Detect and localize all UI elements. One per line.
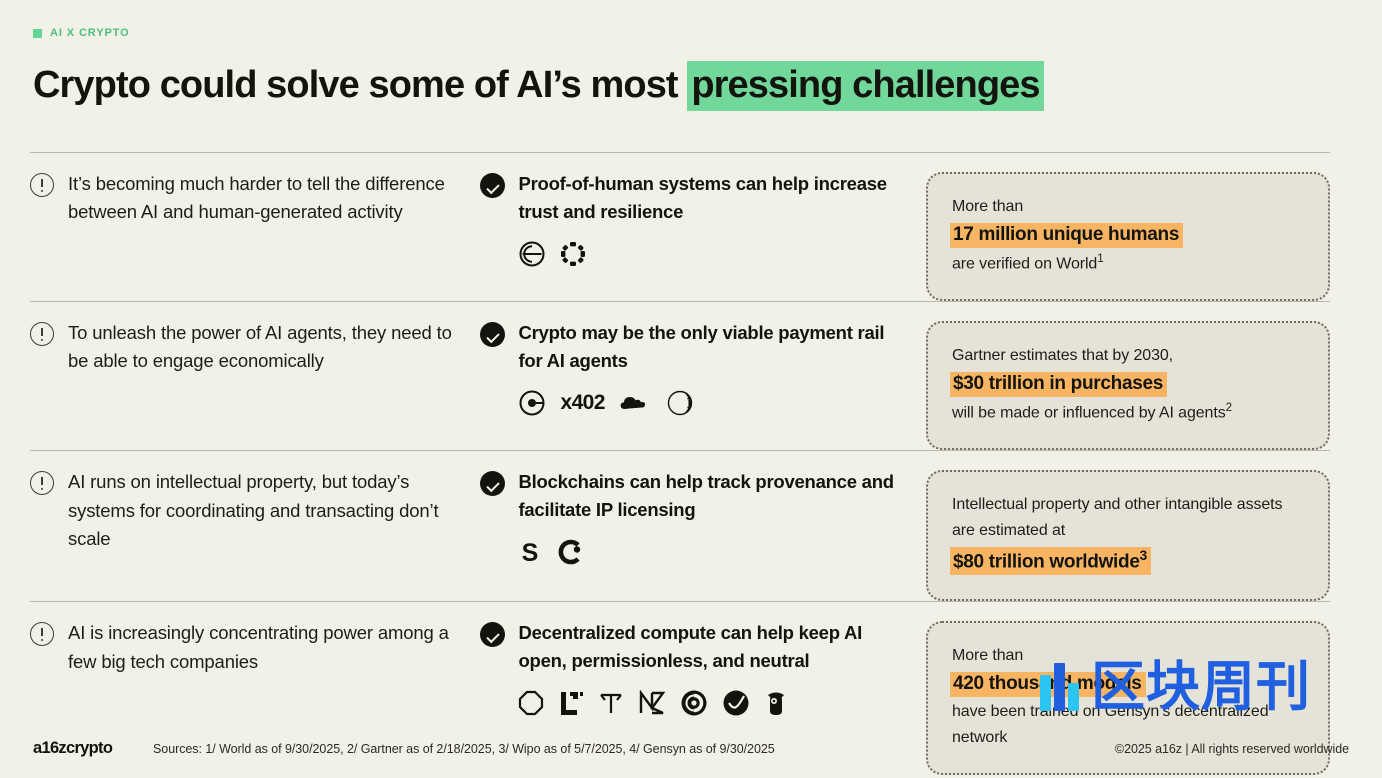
stat-footnote: 2: [1226, 402, 1232, 414]
solution-text: Decentralized compute can help keep AI o…: [518, 619, 908, 675]
stat-highlight-text: $80 trillion worldwide: [953, 551, 1140, 572]
alert-circle-icon: [30, 622, 54, 646]
check-circle-icon: [480, 622, 505, 647]
alert-circle-icon: [30, 471, 54, 495]
stat-card: More than 17 million unique humans are v…: [926, 172, 1330, 301]
a16zcrypto-logo: a16zcrypto: [33, 739, 153, 758]
logo-row: x402: [518, 388, 908, 418]
world-logo: [518, 240, 546, 268]
figure-logo: [764, 689, 788, 717]
content-rows: It’s becoming much harder to tell the di…: [30, 152, 1330, 775]
stat-card: Gartner estimates that by 2030, $30 tril…: [926, 321, 1330, 450]
stat-footnote: 1: [1097, 253, 1103, 265]
problem-text: To unleash the power of AI agents, they …: [68, 319, 460, 376]
check-swirl-logo: [722, 689, 750, 717]
stat-cell: More than 17 million unique humans are v…: [926, 170, 1330, 301]
bracket-flag-logo: [558, 690, 584, 716]
content-row: To unleash the power of AI agents, they …: [30, 301, 1330, 450]
dotted-ring-logo: [560, 241, 586, 267]
stat-pre: Intellectual property and other intangib…: [952, 492, 1304, 544]
footer: a16zcrypto Sources: 1/ World as of 9/30/…: [33, 739, 1349, 758]
stat-post-text: are verified on World: [952, 255, 1097, 272]
stat-highlight: $30 trillion in purchases: [950, 372, 1167, 397]
sources-text: Sources: 1/ World as of 9/30/2025, 2/ Ga…: [153, 742, 775, 756]
problem-text: It’s becoming much harder to tell the di…: [68, 170, 460, 227]
solution-text: Crypto may be the only viable payment ra…: [518, 319, 908, 375]
solution-cell: Proof-of-human systems can help increase…: [480, 170, 926, 269]
n-monogram-logo: [638, 690, 666, 716]
stat-footnote: 3: [1140, 548, 1147, 563]
svg-text:S: S: [522, 539, 539, 566]
problem-cell: AI runs on intellectual property, but to…: [30, 468, 480, 553]
cloudflare-logo: [619, 392, 653, 414]
spiral-circle-logo: [680, 689, 708, 717]
logo-row: S: [518, 537, 908, 567]
eyebrow: AI X CRYPTO: [33, 27, 130, 39]
stat-card: Intellectual property and other intangib…: [926, 470, 1330, 601]
page-title-highlight: pressing challenges: [687, 61, 1043, 111]
copyright-text: ©2025 a16z | All rights reserved worldwi…: [1115, 742, 1349, 756]
problem-cell: AI is increasingly concentrating power a…: [30, 619, 480, 676]
stat-pre: More than: [952, 643, 1304, 669]
stat-highlight: $80 trillion worldwide3: [950, 547, 1151, 575]
content-row: AI runs on intellectual property, but to…: [30, 450, 1330, 601]
logo-row: [518, 688, 908, 718]
page-title-plain: Crypto could solve some of AI’s most: [33, 64, 687, 106]
content-row: It’s becoming much harder to tell the di…: [30, 152, 1330, 301]
solution-text: Blockchains can help track provenance an…: [518, 468, 908, 524]
check-circle-icon: [480, 173, 505, 198]
stat-highlight: 17 million unique humans: [950, 223, 1183, 248]
story-s-logo: S: [518, 538, 542, 566]
solution-text: Proof-of-human systems can help increase…: [518, 170, 908, 226]
problem-cell: It’s becoming much harder to tell the di…: [30, 170, 480, 227]
problem-text: AI runs on intellectual property, but to…: [68, 468, 460, 553]
problem-text: AI is increasingly concentrating power a…: [68, 619, 460, 676]
x402-wordmark: x402: [560, 391, 604, 415]
problem-cell: To unleash the power of AI agents, they …: [30, 319, 480, 376]
stat-cell: Intellectual property and other intangib…: [926, 468, 1330, 601]
check-circle-icon: [480, 471, 505, 496]
alert-circle-icon: [30, 173, 54, 197]
solution-cell: Crypto may be the only viable payment ra…: [480, 319, 926, 418]
solution-cell: Decentralized compute can help keep AI o…: [480, 619, 926, 718]
page-title: Crypto could solve some of AI’s most pre…: [33, 64, 1044, 108]
stat-highlight: 420 thousand models: [950, 672, 1146, 697]
t-logo: [598, 690, 624, 716]
stat-post-text: will be made or influenced by AI agents: [952, 404, 1226, 421]
eyebrow-label: AI X CRYPTO: [50, 27, 130, 39]
solution-cell: Blockchains can help track provenance an…: [480, 468, 926, 567]
octagon-outline-logo: [518, 690, 544, 716]
alert-circle-icon: [30, 322, 54, 346]
logo-row: [518, 239, 908, 269]
stat-cell: Gartner estimates that by 2030, $30 tril…: [926, 319, 1330, 450]
stat-post: will be made or influenced by AI agents2: [952, 399, 1304, 426]
check-circle-icon: [480, 322, 505, 347]
green-square-icon: [33, 29, 42, 38]
stat-pre: Gartner estimates that by 2030,: [952, 343, 1304, 369]
stat-post: are verified on World1: [952, 250, 1304, 277]
stat-pre: More than: [952, 194, 1304, 220]
coinbase-dot-logo: [518, 389, 546, 417]
camp-c-logo: [556, 538, 584, 566]
crescent-logo: [667, 390, 693, 416]
